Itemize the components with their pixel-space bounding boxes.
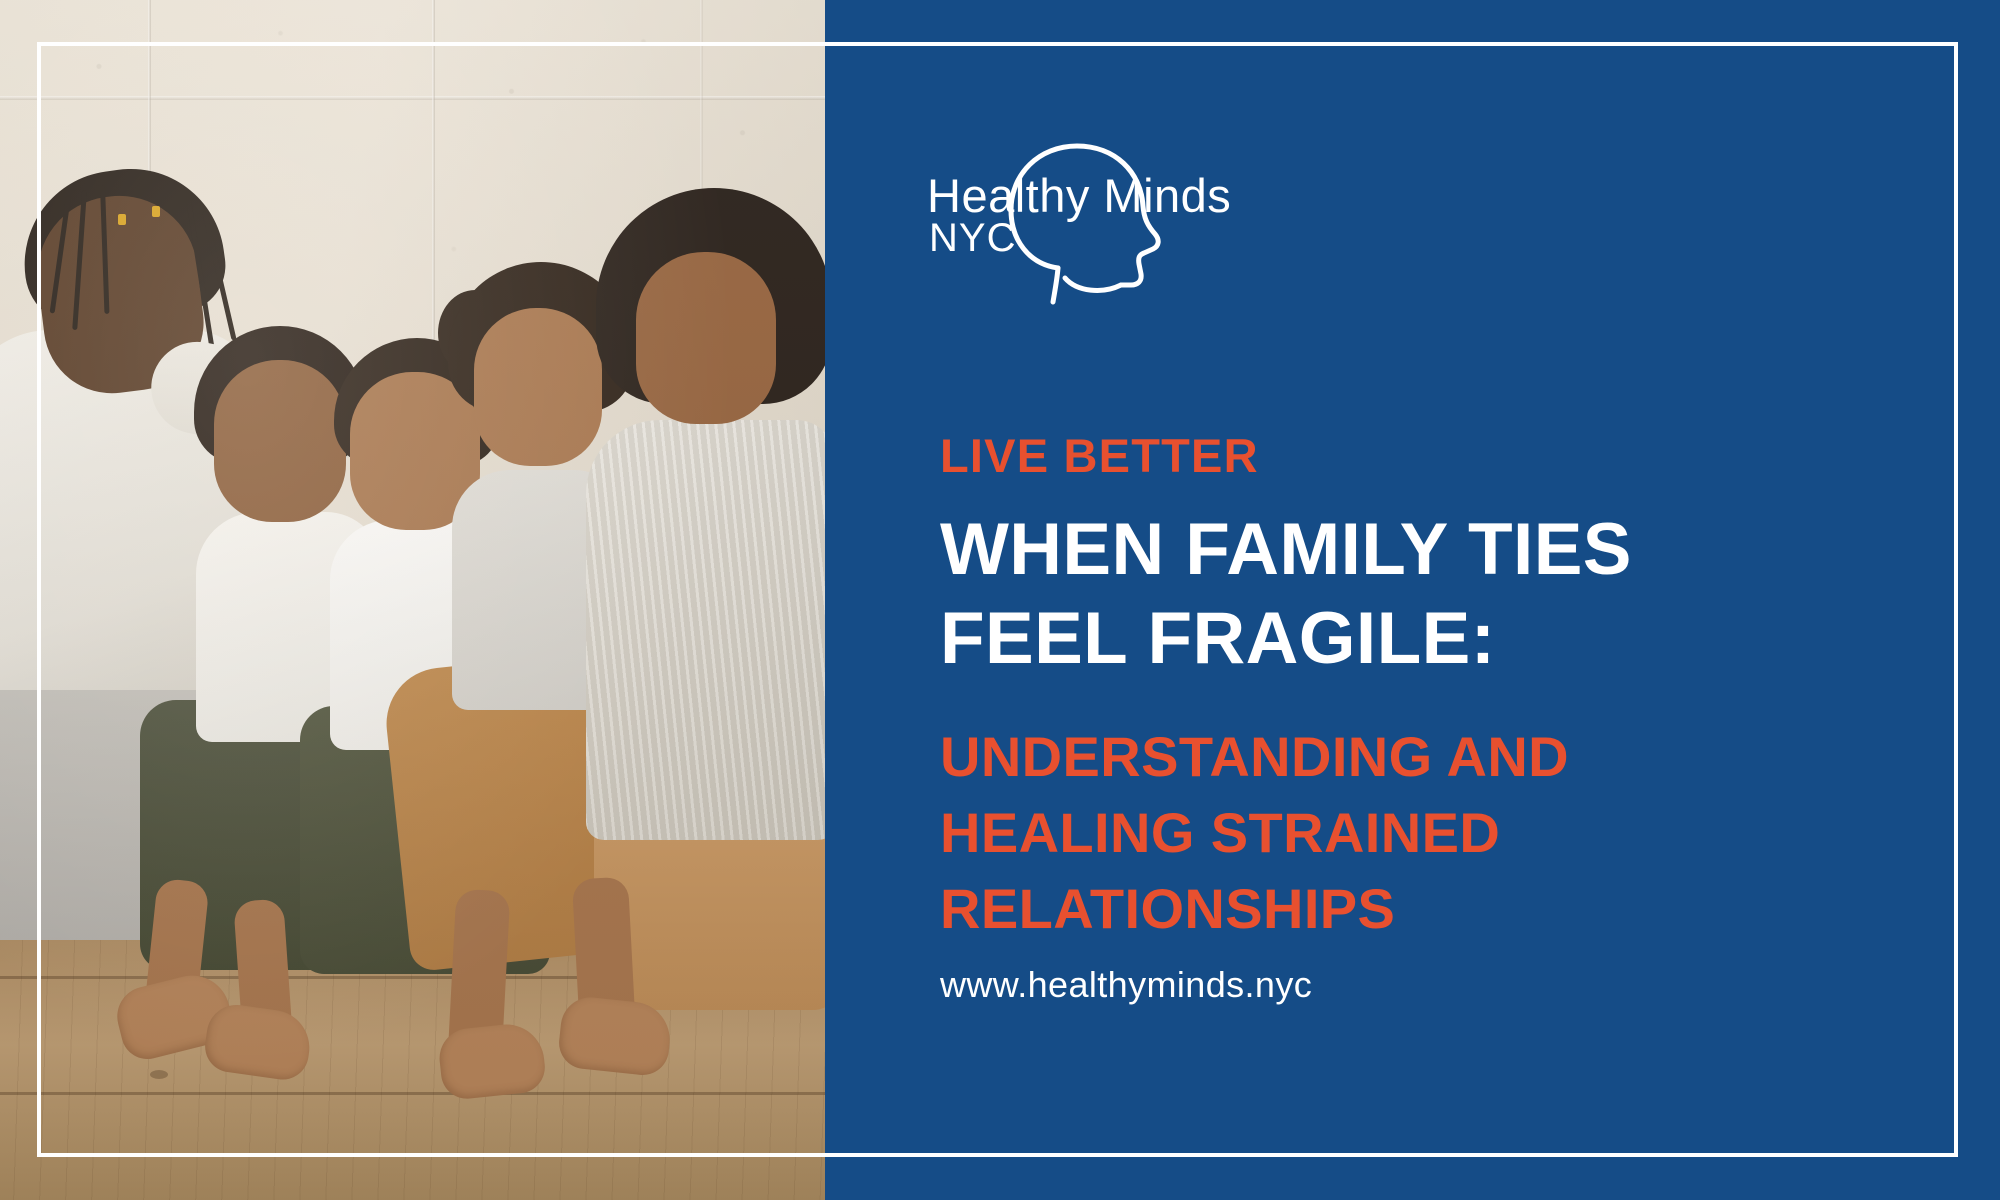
logo-wordmark: Healthy Minds [927,168,1231,223]
copy-block: LIVE BETTER WHEN FAMILY TIES FEEL FRAGIL… [940,432,1940,1006]
subheadline-line-3: RELATIONSHIPS [940,871,1940,947]
wood-knot [150,1070,168,1079]
logo-submark: NYC [929,216,1016,261]
promo-poster: Healthy Minds NYC LIVE BETTER WHEN FAMIL… [0,0,2000,1200]
boy1-head [214,360,346,522]
eyebrow-text: LIVE BETTER [940,432,1940,479]
family-photo [0,0,825,1200]
mother-sweater-texture [586,420,825,840]
hair-bead [152,206,160,217]
brand-logo[interactable]: Healthy Minds NYC [925,118,1255,308]
bare-foot [437,1021,548,1101]
subheadline-line-1: UNDERSTANDING AND [940,719,1940,795]
subheadline-line-2: HEALING STRAINED [940,795,1940,871]
hair-bead [118,214,126,225]
plank-seam [0,1092,825,1095]
headline-line-2: FEEL FRAGILE: [940,594,1940,683]
girl-head [474,308,602,466]
headline: WHEN FAMILY TIES FEEL FRAGILE: [940,505,1940,683]
website-url[interactable]: www.healthyminds.nyc [940,964,1940,1006]
mother-head [636,252,776,424]
subheadline: UNDERSTANDING AND HEALING STRAINED RELAT… [940,719,1940,947]
headline-line-1: WHEN FAMILY TIES [940,505,1940,594]
